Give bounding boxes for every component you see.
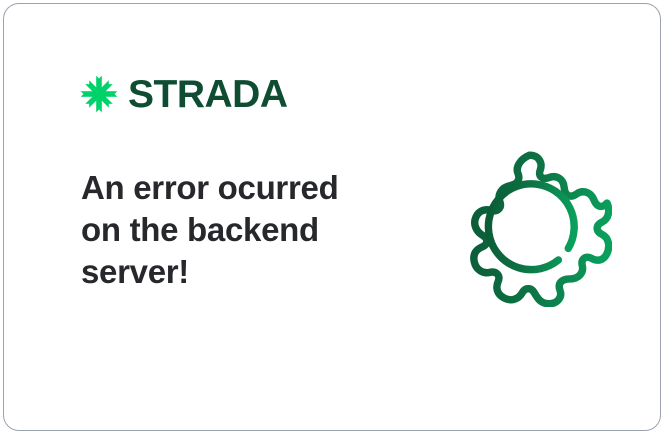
gear-cog-icon bbox=[447, 142, 612, 307]
brand-wordmark: STRADA bbox=[128, 75, 288, 114]
error-headline: An error ocurred on the backend server! bbox=[81, 167, 381, 293]
error-page: STRADA An error ocurred on the backend s… bbox=[0, 0, 666, 436]
brand-logo: STRADA bbox=[79, 73, 288, 115]
error-card: STRADA An error ocurred on the backend s… bbox=[3, 3, 661, 431]
strada-asterisk-icon bbox=[79, 74, 119, 114]
